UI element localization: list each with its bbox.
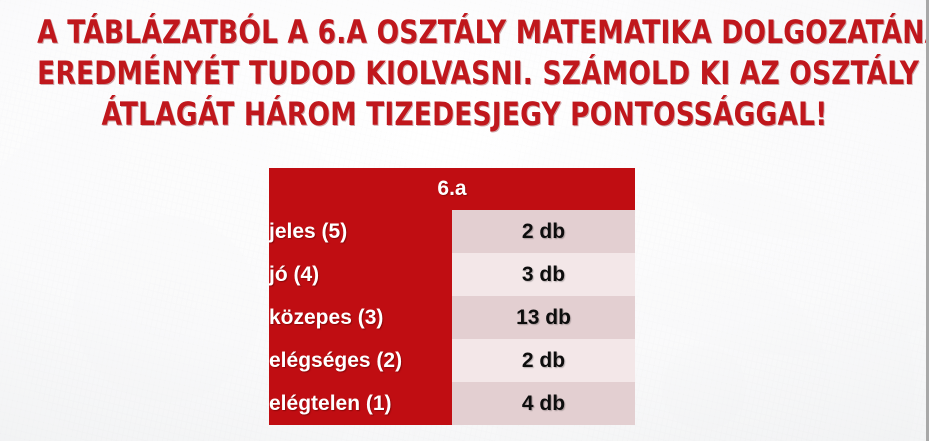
table-row: közepes (3) 13 db [269, 296, 635, 339]
title-line-2: EREDMÉNYÉT TUDOD KIOLVASNI. SZÁMOLD KI A… [37, 53, 892, 94]
row-value-jeles: 2 db [452, 210, 635, 253]
row-label-kozepes: közepes (3) [269, 296, 452, 339]
table-header-label: 6.a [269, 168, 635, 210]
table-row: jó (4) 3 db [269, 253, 635, 296]
page-title: A TÁBLÁZATBÓL A 6.A OSZTÁLY MATEMATIKA D… [37, 12, 892, 135]
row-value-kozepes: 13 db [452, 296, 635, 339]
row-label-jeles: jeles (5) [269, 210, 452, 253]
row-value-jo: 3 db [452, 253, 635, 296]
table-row: elégséges (2) 2 db [269, 339, 635, 382]
row-label-elegseges: elégséges (2) [269, 339, 452, 382]
slide-canvas: A TÁBLÁZATBÓL A 6.A OSZTÁLY MATEMATIKA D… [0, 0, 929, 441]
row-label-elegtelen: elégtelen (1) [269, 382, 452, 425]
table-row: elégtelen (1) 4 db [269, 382, 635, 425]
title-line-3: ÁTLAGÁT HÁROM TIZEDESJEGY PONTOSSÁGGAL! [37, 94, 892, 135]
title-line-1: A TÁBLÁZATBÓL A 6.A OSZTÁLY MATEMATIKA D… [37, 12, 892, 53]
grade-distribution-table: 6.a jeles (5) 2 db jó (4) 3 db közepes (… [269, 168, 635, 425]
row-value-elegtelen: 4 db [452, 382, 635, 425]
row-value-elegseges: 2 db [452, 339, 635, 382]
table-row: jeles (5) 2 db [269, 210, 635, 253]
table-header-row: 6.a [269, 168, 635, 210]
row-label-jo: jó (4) [269, 253, 452, 296]
